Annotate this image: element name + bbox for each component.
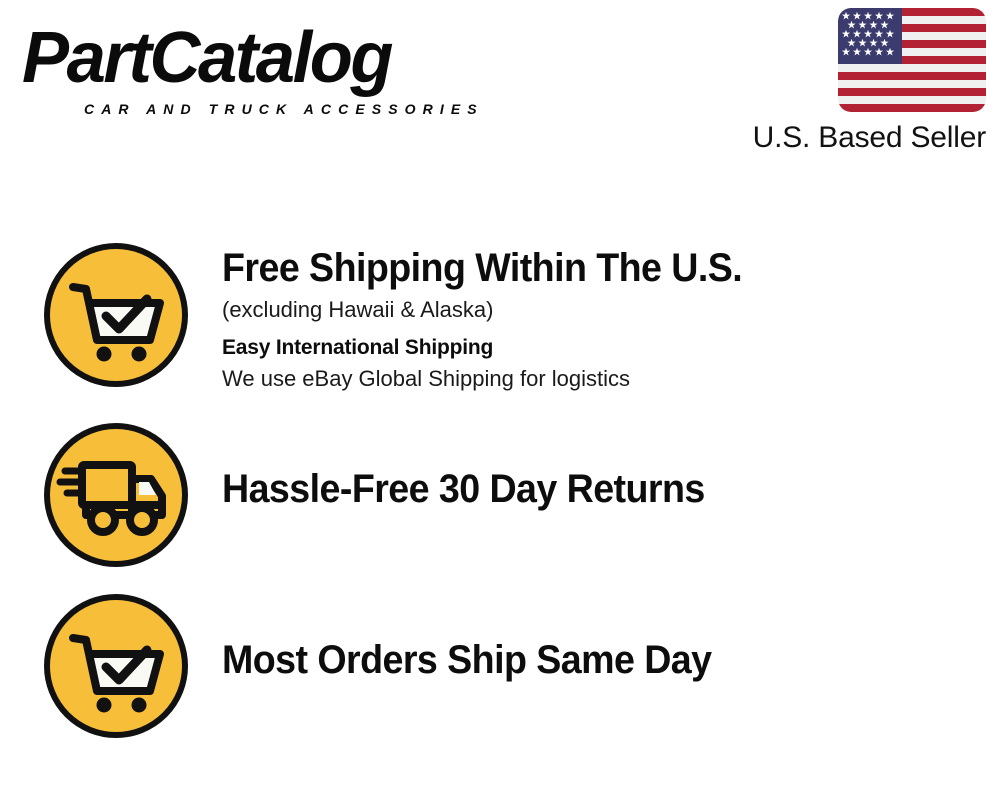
- feature-sublabel: We use eBay Global Shipping for logistic…: [222, 364, 970, 394]
- feature-text: Most Orders Ship Same Day: [192, 590, 970, 683]
- us-based-seller-badge: U.S. Based Seller: [716, 8, 986, 155]
- feature-row: Hassle-Free 30 Day Returns: [40, 419, 970, 571]
- feature-heading: Hassle-Free 30 Day Returns: [222, 466, 925, 512]
- us-flag-icon: [838, 8, 986, 112]
- feature-text: Free Shipping Within The U.S. (excluding…: [192, 239, 970, 394]
- feature-text: Hassle-Free 30 Day Returns: [192, 419, 970, 512]
- cart-check-icon: [40, 239, 192, 391]
- brand-wordmark: PartCatalog: [22, 22, 391, 94]
- feature-note: (excluding Hawaii & Alaska): [222, 295, 970, 325]
- seller-label: U.S. Based Seller: [716, 121, 986, 155]
- feature-row: Free Shipping Within The U.S. (excluding…: [40, 239, 970, 394]
- feature-heading: Most Orders Ship Same Day: [222, 637, 925, 683]
- cart-check-icon: [40, 590, 192, 742]
- brand-tagline: CAR AND TRUCK ACCESSORIES: [84, 102, 484, 116]
- delivery-truck-icon: [40, 419, 192, 571]
- feature-heading: Free Shipping Within The U.S.: [222, 245, 925, 291]
- brand-logo[interactable]: PartCatalog CAR AND TRUCK ACCESSORIES: [22, 22, 492, 114]
- feature-subheading: Easy International Shipping: [222, 334, 970, 362]
- feature-row: Most Orders Ship Same Day: [40, 590, 970, 742]
